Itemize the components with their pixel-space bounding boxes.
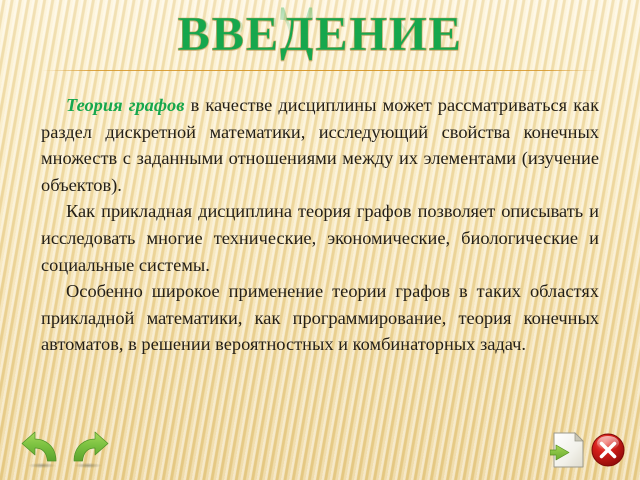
slide-body: Теория графов в качестве дисциплины може… bbox=[41, 92, 599, 358]
slide-canvas: ВВЕДЕНИЕ ВВЕДЕНИЕ Теория графов в качест… bbox=[0, 0, 640, 480]
curved-arrow-right-icon[interactable] bbox=[66, 430, 110, 470]
document-back-icon[interactable] bbox=[550, 430, 588, 470]
title-divider bbox=[42, 70, 598, 71]
navigation-controls-right bbox=[548, 428, 630, 474]
close-circle-icon[interactable] bbox=[590, 432, 626, 468]
paragraph-3-text: Особенно широкое применение теории графо… bbox=[41, 281, 599, 354]
slide-title-area: ВВЕДЕНИЕ ВВЕДЕНИЕ bbox=[0, 0, 640, 92]
page-title: ВВЕДЕНИЕ bbox=[0, 6, 640, 62]
keyword-graph-theory: Теория графов bbox=[66, 95, 184, 115]
paragraph-2-text: Как прикладная дисциплина теория графов … bbox=[41, 201, 599, 274]
paragraph-2: Как прикладная дисциплина теория графов … bbox=[41, 198, 599, 278]
paragraph-1: Теория графов в качестве дисциплины може… bbox=[41, 92, 599, 198]
paragraph-3: Особенно широкое применение теории графо… bbox=[41, 278, 599, 358]
navigation-controls-left bbox=[18, 428, 138, 474]
curved-arrow-left-icon[interactable] bbox=[20, 430, 64, 470]
